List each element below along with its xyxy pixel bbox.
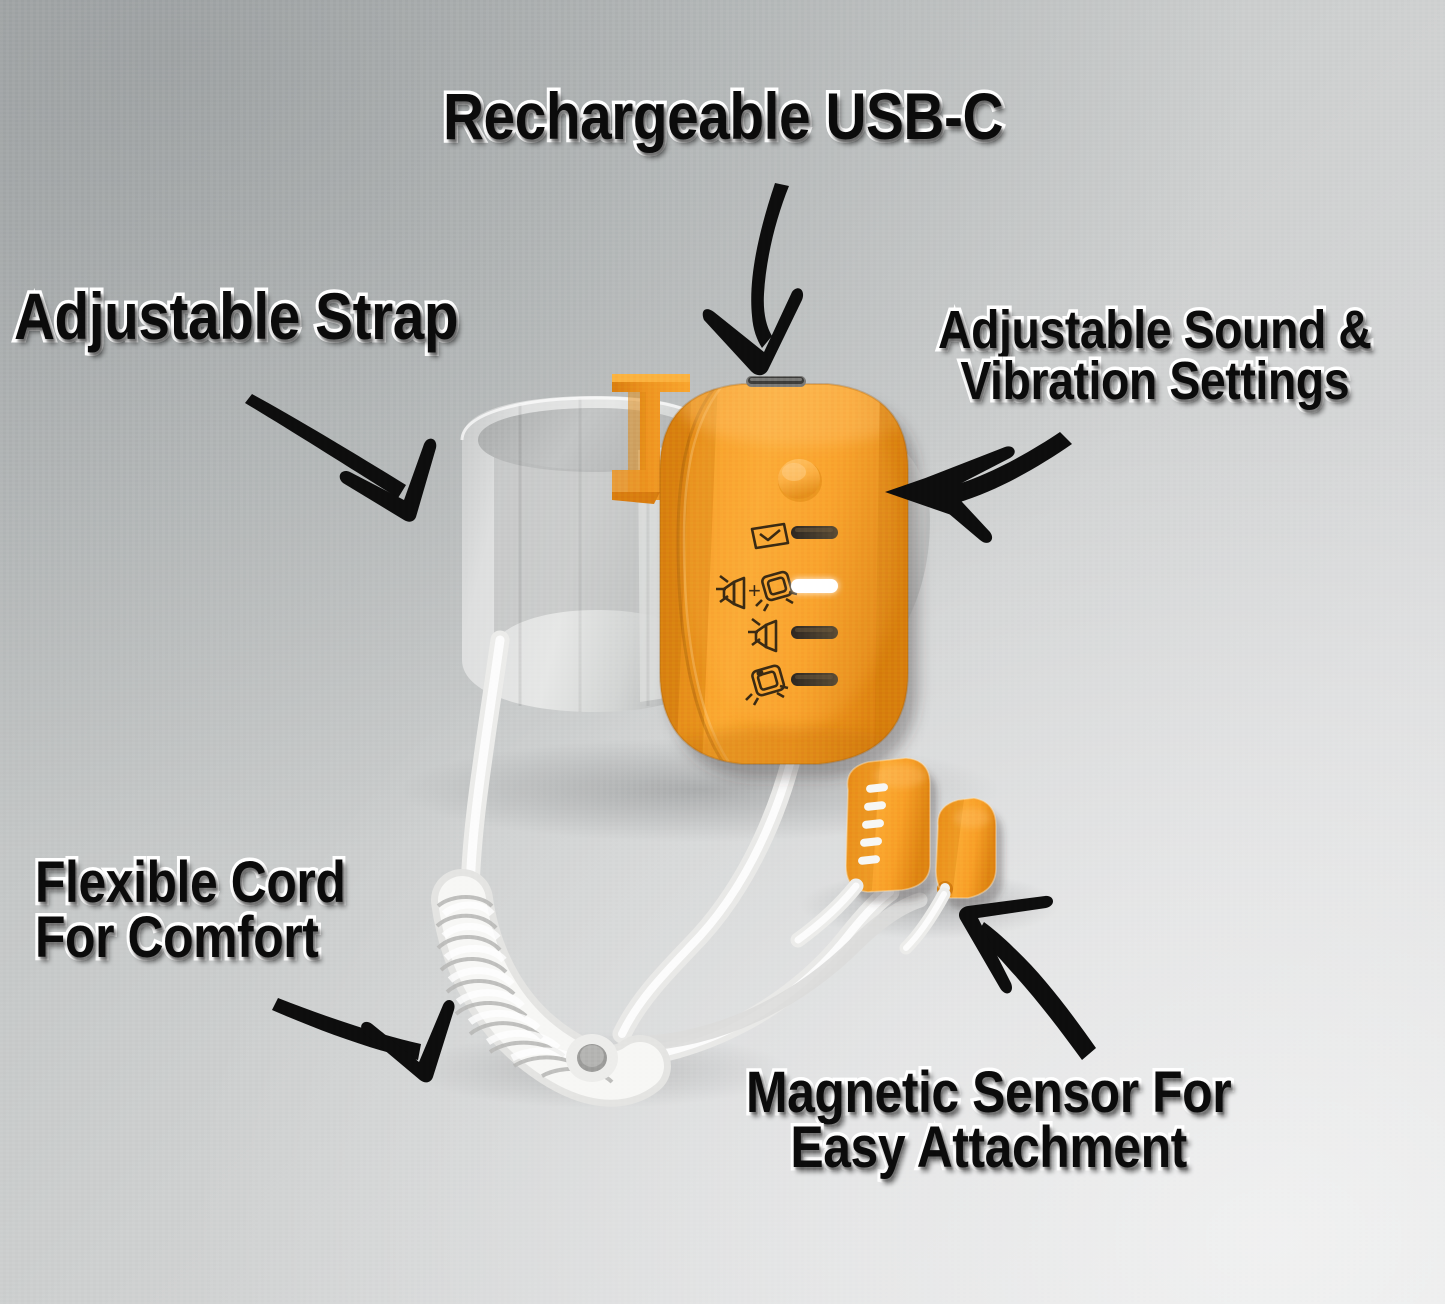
- callout-label-magnetic-sensor: Magnetic Sensor For Easy Attachment: [746, 1065, 1231, 1175]
- infographic-canvas: +: [0, 0, 1445, 1304]
- led-bar-sound: [791, 626, 838, 639]
- led-bar-vibration: [791, 673, 838, 686]
- led-bar-battery: [791, 526, 838, 539]
- plus-symbol: +: [748, 578, 761, 603]
- callout-label-adjustable-strap: Adjustable Strap: [14, 285, 458, 348]
- callout-label-rechargeable-usb-c: Rechargeable USB-C: [443, 85, 1003, 148]
- usb-c-port: [746, 376, 806, 387]
- callout-label-adjustable-sound-vibration: Adjustable Sound & Vibration Settings: [938, 305, 1371, 408]
- callout-label-flexible-cord: Flexible Cord For Comfort: [35, 855, 345, 965]
